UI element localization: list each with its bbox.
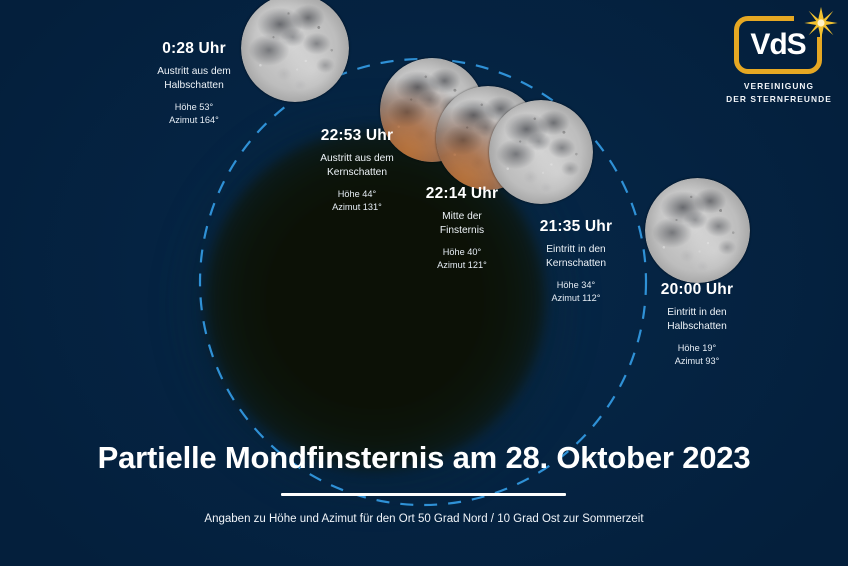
eclipse-infographic: 0:28 Uhr Austritt aus dem Halbschatten H… (0, 0, 848, 566)
logo-subtitle-line2: DER STERNFREUNDE (718, 93, 840, 106)
event-description-line1: Austritt aus dem (287, 152, 427, 166)
event-description-line1: Eintritt in den (629, 306, 765, 320)
event-description: Eintritt in den Halbschatten (629, 306, 765, 333)
event-description-line2: Kernschatten (508, 257, 644, 271)
logo-subtitle-line1: VEREINIGUNG (718, 80, 840, 93)
moon-2000 (645, 178, 750, 283)
event-coordinates: Höhe 19° Azimut 93° (629, 342, 765, 367)
event-coordinates: Höhe 53° Azimut 164° (124, 101, 264, 126)
event-azimuth: Azimut 112° (508, 292, 644, 305)
page-title: Partielle Mondfinsternis am 28. Oktober … (0, 440, 848, 476)
star-icon (804, 6, 838, 40)
event-description: Eintritt in den Kernschatten (508, 243, 644, 270)
event-altitude: Höhe 53° (124, 101, 264, 114)
event-label-2135: 21:35 Uhr Eintritt in den Kernschatten H… (508, 218, 644, 305)
event-time: 0:28 Uhr (124, 40, 264, 58)
event-altitude: Höhe 34° (508, 279, 644, 292)
moon-limb-shading (645, 178, 750, 283)
event-time: 21:35 Uhr (508, 218, 644, 236)
event-azimuth: Azimut 164° (124, 114, 264, 127)
event-label-0028: 0:28 Uhr Austritt aus dem Halbschatten H… (124, 40, 264, 127)
event-coordinates: Höhe 34° Azimut 112° (508, 279, 644, 304)
event-azimuth: Azimut 93° (629, 355, 765, 368)
event-description-line2: Halbschatten (124, 79, 264, 93)
event-description: Austritt aus dem Halbschatten (124, 65, 264, 92)
title-divider (281, 493, 566, 496)
event-description: Austritt aus dem Kernschatten (287, 152, 427, 179)
event-description-line2: Halbschatten (629, 320, 765, 334)
event-time: 22:53 Uhr (287, 127, 427, 145)
event-description-line1: Austritt aus dem (124, 65, 264, 79)
event-description-line1: Eintritt in den (508, 243, 644, 257)
event-time: 22:14 Uhr (394, 185, 530, 203)
event-altitude: Höhe 19° (629, 342, 765, 355)
event-description-line2: Kernschatten (287, 166, 427, 180)
vds-logo[interactable]: VdS VEREINIGUNG DER STERNFREUNDE (718, 8, 840, 112)
logo-subtitle: VEREINIGUNG DER STERNFREUNDE (718, 80, 840, 105)
event-time: 20:00 Uhr (629, 281, 765, 299)
page-subtitle: Angaben zu Höhe und Azimut für den Ort 5… (0, 513, 848, 525)
event-label-2000: 20:00 Uhr Eintritt in den Halbschatten H… (629, 281, 765, 368)
